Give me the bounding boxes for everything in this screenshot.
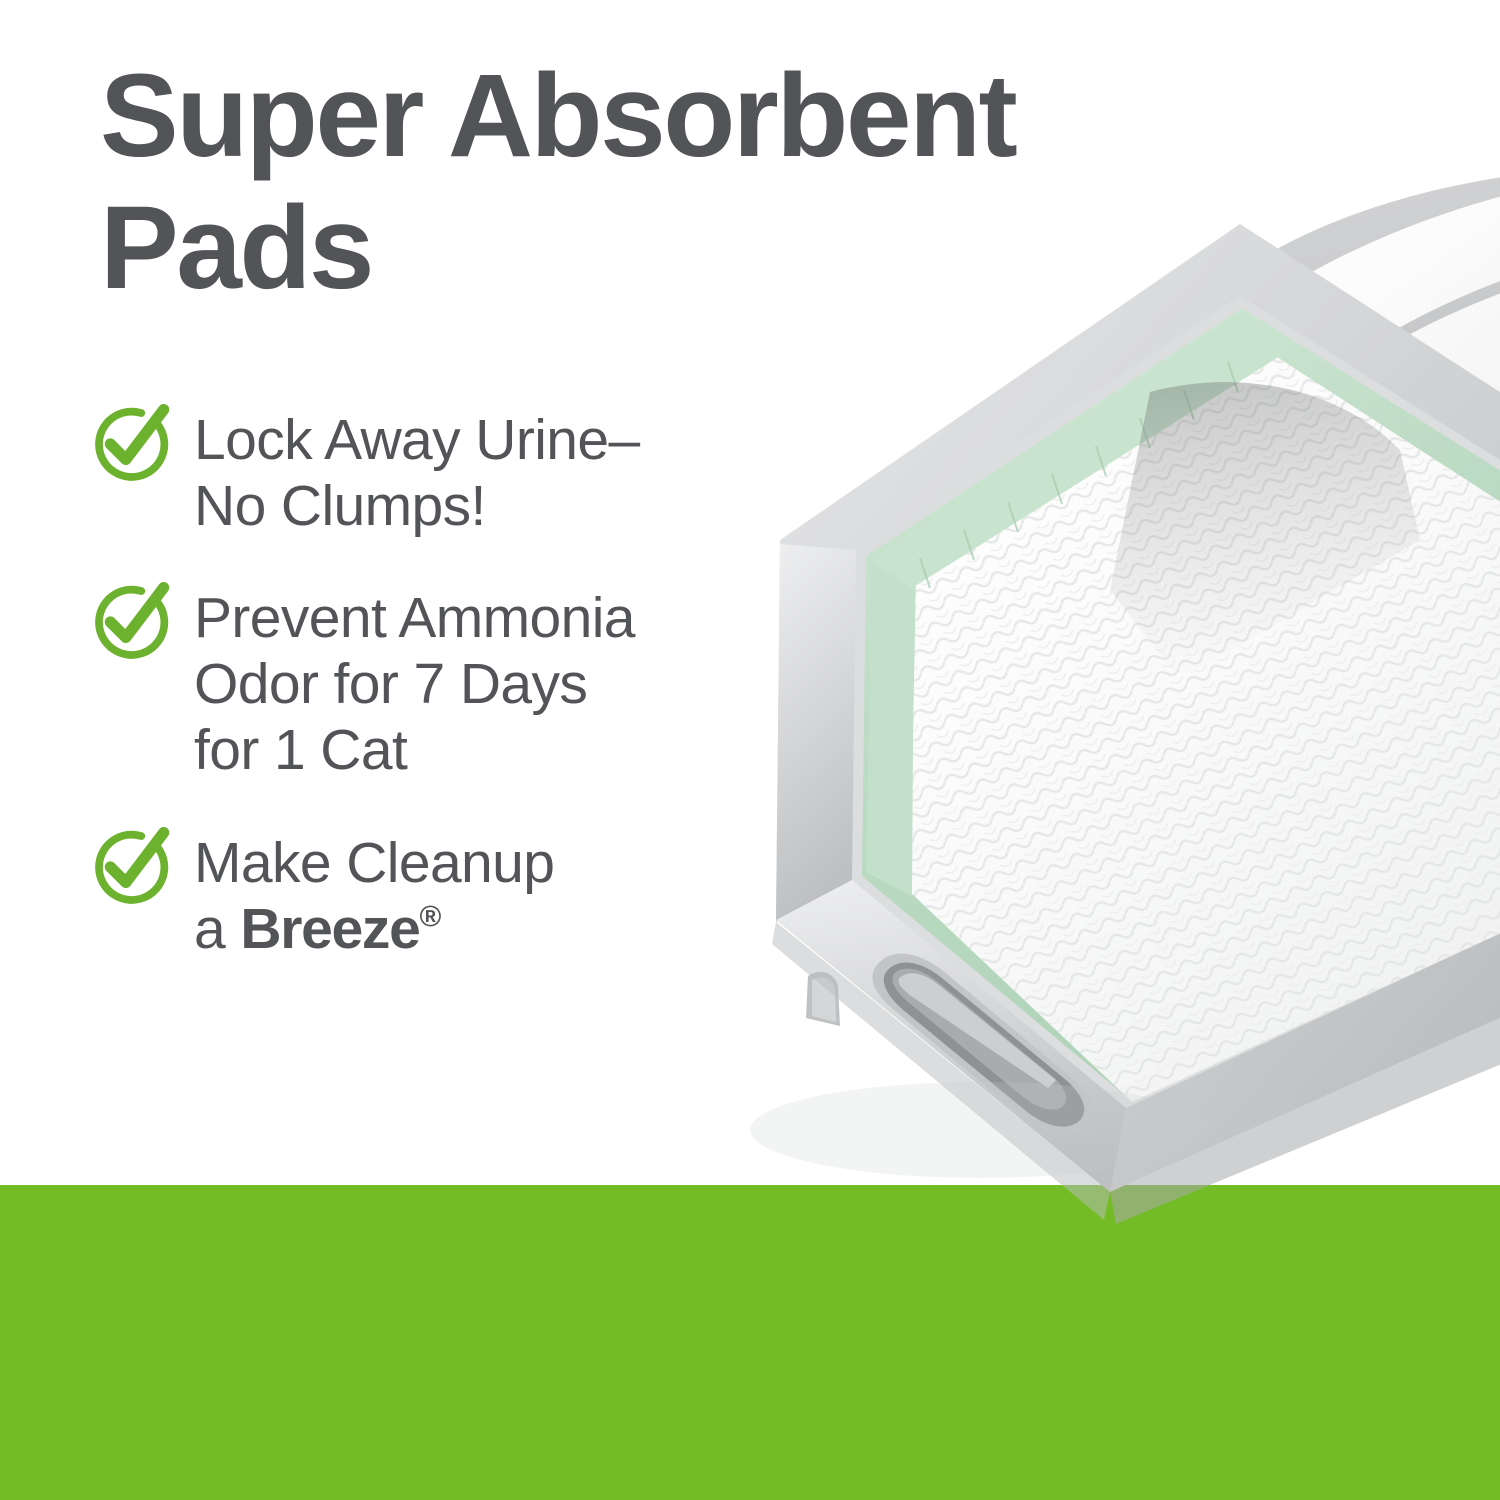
bullet-line: Lock Away Urine– <box>194 407 640 473</box>
check-circle-icon <box>88 579 174 665</box>
brand-name-breeze: Breeze <box>240 897 419 961</box>
check-circle-icon <box>88 824 174 910</box>
bullet-line-brand: a Breeze® <box>194 896 554 962</box>
feature-bullet-prevent-ammonia-odor: Prevent Ammonia Odor for 7 Days for 1 Ca… <box>88 583 898 783</box>
bullet-line: No Clumps! <box>194 473 640 539</box>
page-title-line-1: Super Absorbent <box>100 50 1400 182</box>
product-feature-poster: Super Absorbent Pads Lock Away Urine– No… <box>0 0 1500 1500</box>
feature-bullet-text: Make Cleanup a Breeze® <box>194 828 554 962</box>
feature-bullet-lock-away-urine: Lock Away Urine– No Clumps! <box>88 405 898 539</box>
feature-bullet-make-cleanup-a-breeze: Make Cleanup a Breeze® <box>88 828 898 962</box>
brand-prefix: a <box>194 897 240 961</box>
page-title: Super Absorbent Pads <box>100 50 1400 314</box>
feature-bullet-text: Lock Away Urine– No Clumps! <box>194 405 640 539</box>
check-circle-icon <box>88 401 174 487</box>
registered-trademark-symbol: ® <box>420 900 442 933</box>
feature-bullet-list: Lock Away Urine– No Clumps! Prevent Ammo… <box>88 405 898 962</box>
page-title-line-2: Pads <box>100 182 1400 314</box>
feature-bullet-text: Prevent Ammonia Odor for 7 Days for 1 Ca… <box>194 583 635 783</box>
bullet-line: Odor for 7 Days <box>194 651 635 717</box>
bullet-line: Prevent Ammonia <box>194 585 635 651</box>
bullet-line: for 1 Cat <box>194 717 635 783</box>
bullet-line: Make Cleanup <box>194 830 554 896</box>
